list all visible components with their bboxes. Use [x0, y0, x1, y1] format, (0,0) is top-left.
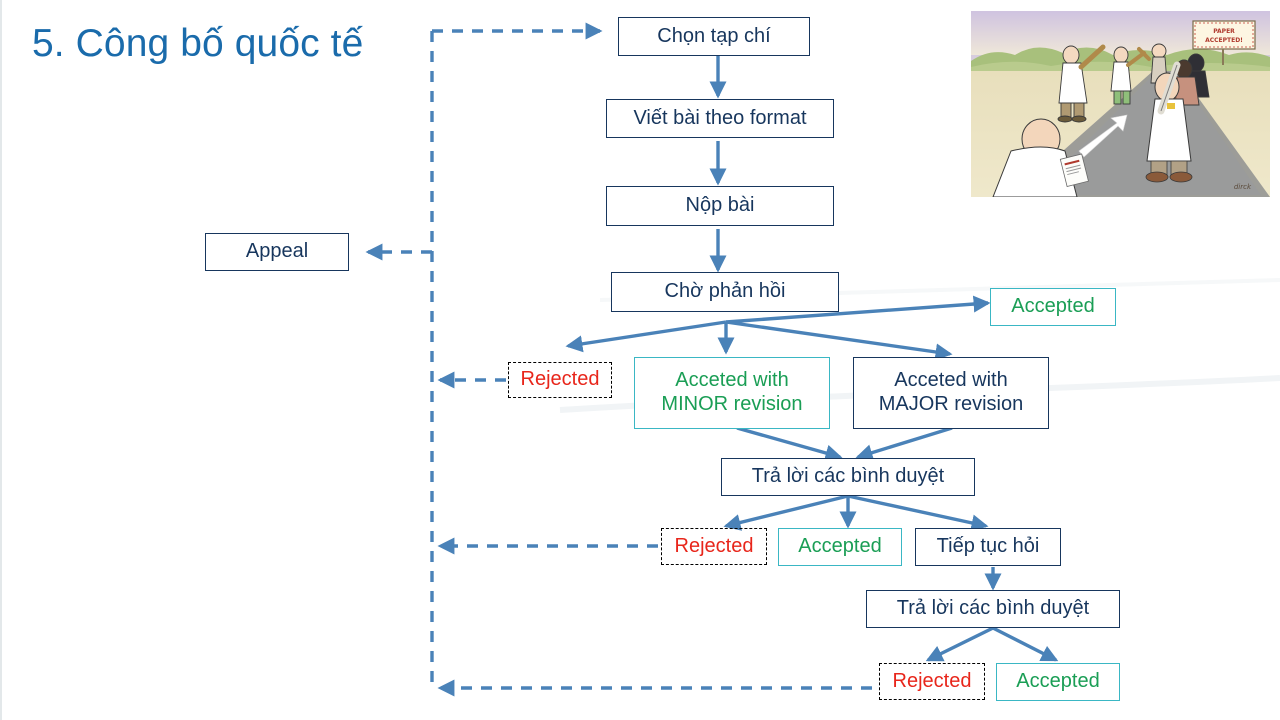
edge-cho-to-rejected	[568, 322, 726, 346]
node-label: Appeal	[246, 240, 308, 264]
node-label-line2: MINOR revision	[661, 393, 802, 417]
edge-cho-to-major	[726, 322, 950, 354]
page-title: 5. Công bố quốc tế	[32, 22, 363, 66]
edge-minor-to-traloi1	[737, 428, 840, 457]
node-label: Viết bài theo format	[633, 107, 806, 131]
node-label-line2: MAJOR revision	[879, 393, 1023, 417]
node-accepted-3[interactable]: Accepted	[996, 663, 1120, 701]
node-accepted-1[interactable]: Accepted	[990, 288, 1116, 326]
svg-text:ACCEPTED!: ACCEPTED!	[1205, 37, 1243, 44]
node-label: Chọn tạp chí	[657, 25, 770, 49]
node-label: Accepted	[798, 535, 881, 559]
node-rejected-3[interactable]: Rejected	[879, 663, 985, 700]
node-appeal[interactable]: Appeal	[205, 233, 349, 271]
node-label: Rejected	[893, 670, 972, 694]
node-label: Trả lời các bình duyệt	[752, 465, 944, 489]
cartoon-illustration: PAPER ACCEPTED!	[971, 11, 1270, 197]
svg-text:PAPER: PAPER	[1213, 28, 1235, 35]
node-label: Accepted	[1011, 295, 1094, 319]
node-label: Rejected	[675, 535, 754, 559]
edge-traloi1-to-rejected	[726, 496, 848, 526]
svg-text:dirck: dirck	[1234, 183, 1252, 191]
slide-canvas: 5. Công bố quốc tế	[0, 0, 1280, 720]
node-viet-bai-theo-format[interactable]: Viết bài theo format	[606, 99, 834, 138]
node-label-line1: Acceted with	[894, 369, 1007, 393]
node-label: Chờ phản hồi	[665, 280, 786, 304]
node-major-revision[interactable]: Acceted with MAJOR revision	[853, 357, 1049, 429]
node-label-line1: Acceted with	[675, 369, 788, 393]
node-rejected-1[interactable]: Rejected	[508, 362, 612, 398]
edge-major-to-traloi1	[858, 428, 952, 457]
edge-traloi2-to-accepted	[993, 628, 1056, 660]
node-label: Rejected	[521, 368, 600, 392]
node-rejected-2[interactable]: Rejected	[661, 528, 767, 565]
node-accepted-2[interactable]: Accepted	[778, 528, 902, 566]
node-cho-phan-hoi[interactable]: Chờ phản hồi	[611, 272, 839, 312]
node-label: Accepted	[1016, 670, 1099, 694]
node-chon-tap-chi[interactable]: Chọn tạp chí	[618, 17, 810, 56]
node-label: Tiếp tục hỏi	[937, 535, 1040, 559]
slide-left-edge-line	[0, 0, 2, 720]
node-label: Nộp bài	[686, 194, 755, 218]
node-minor-revision[interactable]: Acceted with MINOR revision	[634, 357, 830, 429]
node-tra-loi-cac-binh-duyet-1[interactable]: Trả lời các bình duyệt	[721, 458, 975, 496]
edge-traloi1-to-tieptuc	[848, 496, 986, 526]
node-nop-bai[interactable]: Nộp bài	[606, 186, 834, 226]
node-label: Trả lời các bình duyệt	[897, 597, 1089, 621]
node-tra-loi-cac-binh-duyet-2[interactable]: Trả lời các bình duyệt	[866, 590, 1120, 628]
node-tiep-tuc-hoi[interactable]: Tiếp tục hỏi	[915, 528, 1061, 566]
edge-traloi2-to-rejected	[928, 628, 993, 660]
